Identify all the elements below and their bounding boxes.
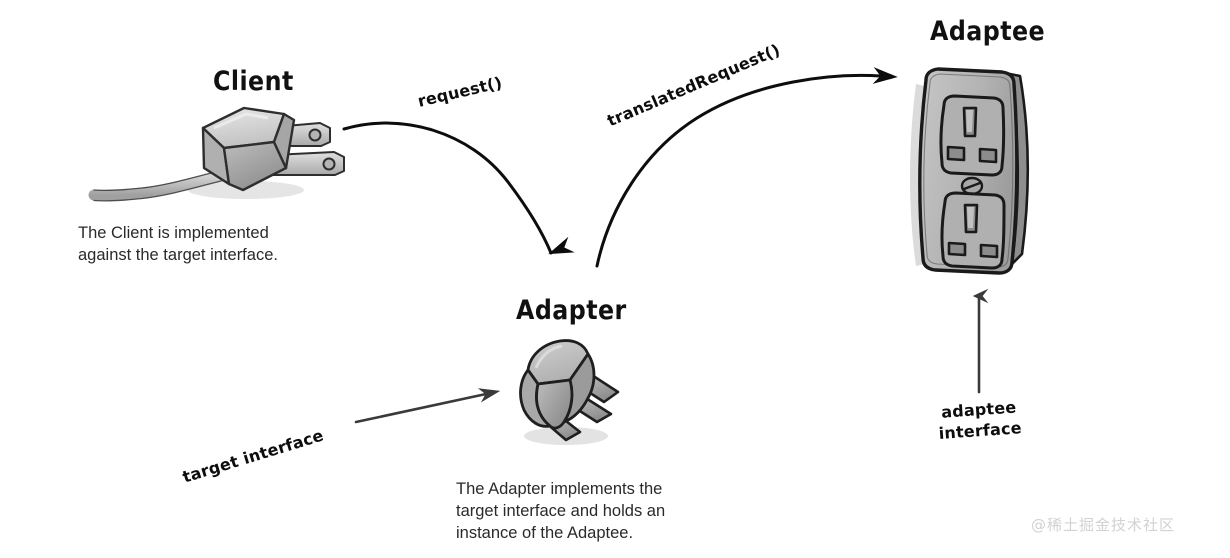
request-label: request()	[416, 73, 504, 111]
uk-three-pin-plug-icon	[508, 332, 648, 460]
translated-request-arrow	[585, 60, 905, 275]
uk-wall-socket-icon	[902, 50, 1032, 290]
client-title: Client	[213, 66, 294, 97]
request-arrow	[330, 110, 580, 280]
adapter-pattern-diagram: Client	[0, 0, 1230, 558]
adapter-caption: The Adapter implements the target interf…	[456, 478, 726, 544]
adaptee-title: Adaptee	[930, 16, 1045, 47]
target-interface-label: target interface	[180, 426, 326, 487]
adaptee-interface-label: adaptee interface	[937, 396, 1023, 444]
watermark: @稀土掘金技术社区	[1031, 514, 1175, 535]
target-interface-arrow	[352, 382, 502, 426]
adaptee-interface-arrow	[962, 286, 998, 396]
us-two-prong-plug-icon	[78, 98, 353, 210]
adapter-title: Adapter	[516, 295, 627, 326]
